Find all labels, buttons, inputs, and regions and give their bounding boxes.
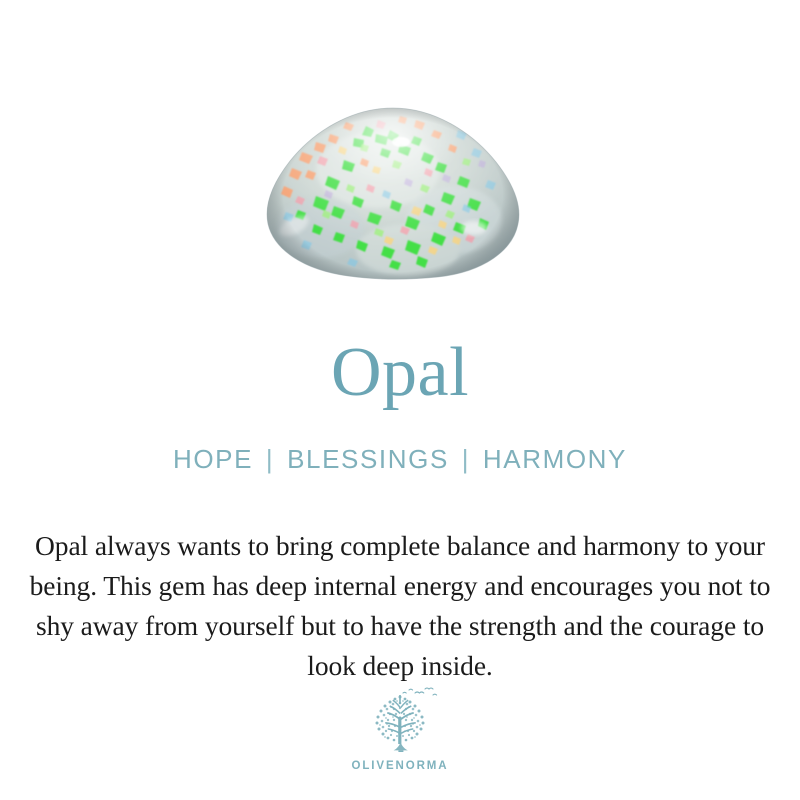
keyword-blessings: BLESSINGS [287,444,449,474]
keyword-separator: | [262,444,278,474]
keyword-separator: | [458,444,474,474]
brand-wordmark: OLIVENORMA [352,760,449,772]
tree-of-life-icon [357,684,443,758]
opal-gemstone-image [258,100,528,290]
keyword-harmony: HARMONY [483,444,627,474]
keyword-hope: HOPE [173,444,253,474]
gemstone-info-card: Opal HOPE | BLESSINGS | HARMONY Opal alw… [0,0,800,800]
page-title: Opal [0,335,800,411]
description-text: Opal always wants to bring complete bala… [16,526,784,686]
keyword-line: HOPE | BLESSINGS | HARMONY [0,443,800,475]
brand-logo: OLIVENORMA [0,684,800,772]
